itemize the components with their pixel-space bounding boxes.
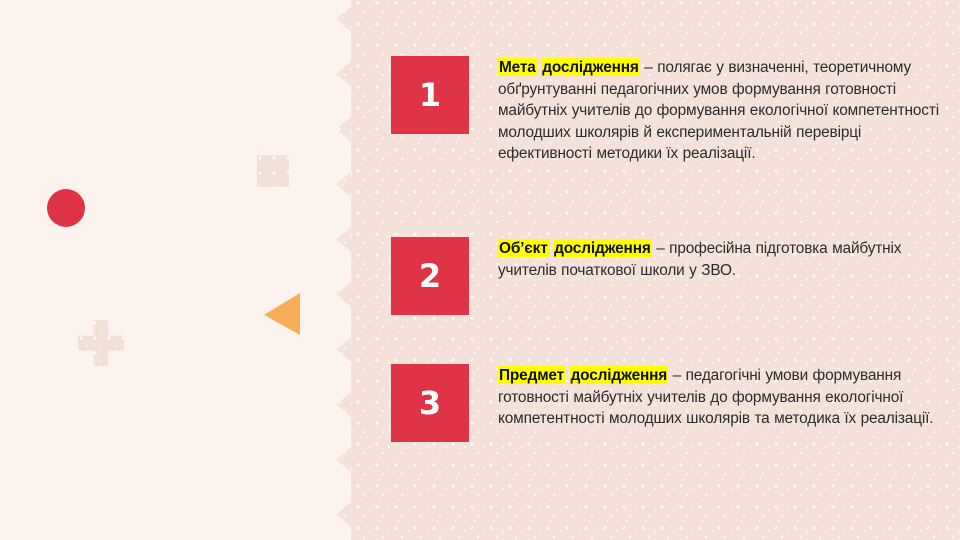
number-badge-label: 2 [419,260,441,292]
highlight-term-secondary: дослідження [541,58,640,76]
content-block-1: 1 Мета дослідження – полягає у визначенн… [391,56,950,165]
block-text-2: Об’єкт дослідження – професійна підготов… [498,237,950,281]
highlight-term-primary: Мета [498,58,537,76]
block-text-1: Мета дослідження – полягає у визначенні,… [498,56,950,165]
slide-canvas: 1 Мета дослідження – полягає у визначенн… [0,0,960,540]
highlight-term-secondary: дослідження [570,366,669,384]
number-badge-1: 1 [391,56,469,134]
block-text-3: Предмет дослідження – педагогічні умови … [498,364,950,430]
triangle-decoration-icon [264,293,300,335]
content-block-3: 3 Предмет дослідження – педагогічні умов… [391,364,950,442]
cross-decoration-icon [78,320,124,366]
highlight-term-secondary: дослідження [553,239,652,257]
number-badge-label: 3 [419,387,441,419]
number-badge-label: 1 [419,79,441,111]
number-badge-3: 3 [391,364,469,442]
circle-decoration-icon [47,189,85,227]
highlight-term-primary: Предмет [498,366,565,384]
number-badge-2: 2 [391,237,469,315]
highlight-term-primary: Об’єкт [498,239,549,257]
square-decoration-icon [257,155,289,187]
content-block-2: 2 Об’єкт дослідження – професійна підгот… [391,237,950,315]
